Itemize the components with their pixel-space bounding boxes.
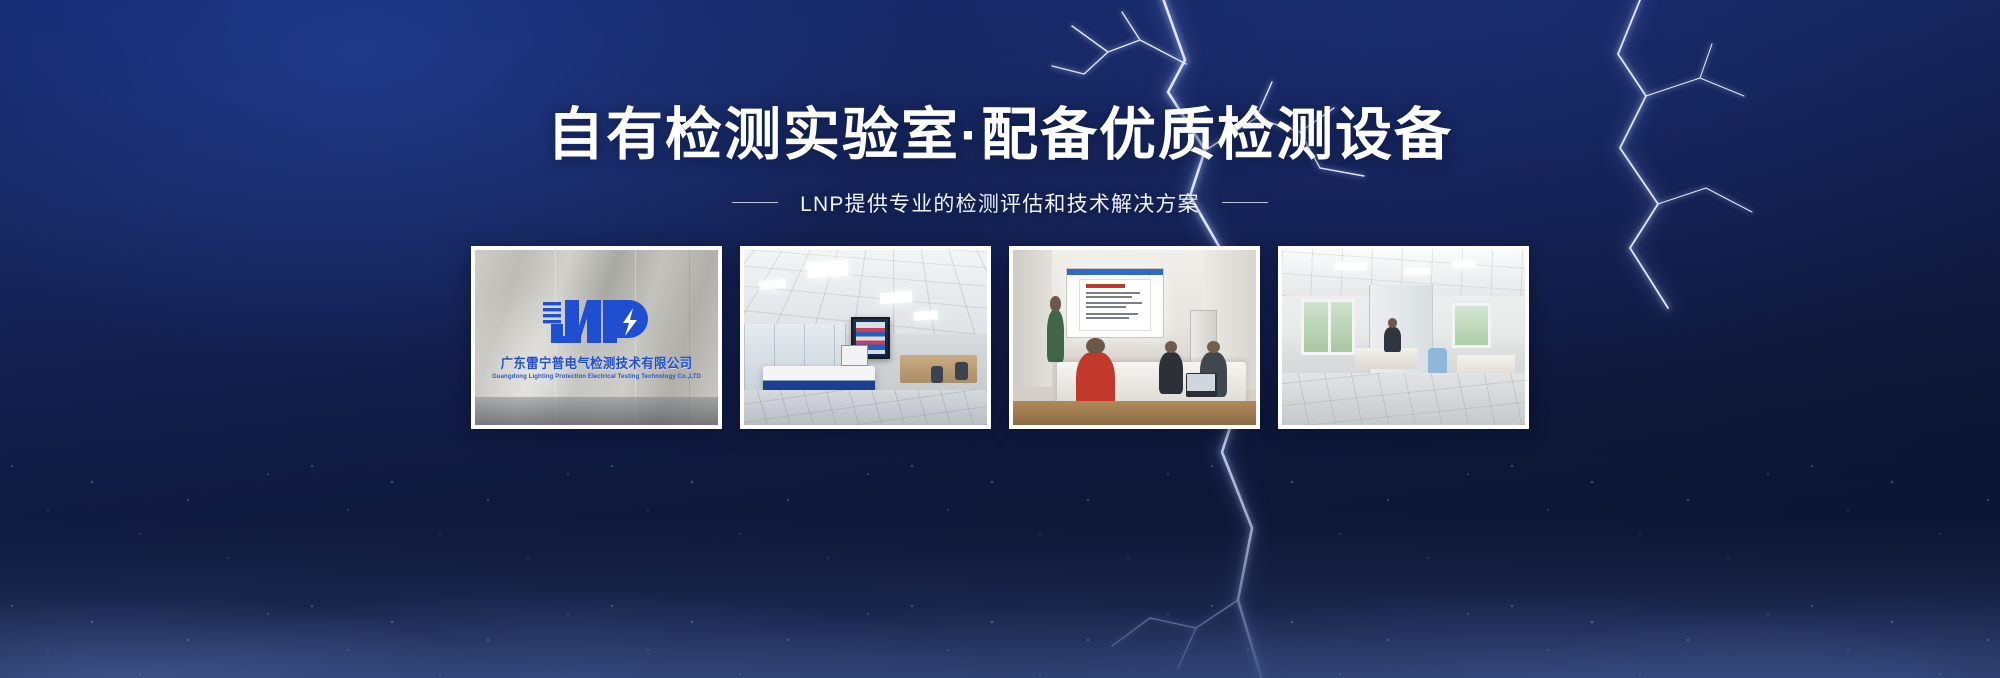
floor xyxy=(744,390,987,425)
attendee xyxy=(1159,352,1183,394)
lightning-branch-left xyxy=(1052,12,1186,74)
ceiling-light xyxy=(807,259,849,278)
rule-right-icon xyxy=(1222,202,1268,203)
presenter xyxy=(1047,310,1064,363)
page-title: 自有检测实验室·配备优质检测设备 xyxy=(0,104,2000,168)
ceiling-light xyxy=(880,291,912,304)
rule-left-icon xyxy=(732,202,778,203)
slide-line xyxy=(1086,306,1127,308)
photo-image xyxy=(744,250,987,425)
horizon-haze xyxy=(0,518,2000,678)
ceiling-light xyxy=(1335,262,1367,270)
company-name-cn: 广东雷宁普电气检测技术有限公司 xyxy=(485,352,709,372)
slide-line xyxy=(1086,317,1130,319)
gallery-photo-office-workspace[interactable] xyxy=(1278,246,1529,429)
gallery-photo-company-logo-wall[interactable]: 广东雷宁普电气检测技术有限公司 Guangdong Lighting Prote… xyxy=(471,246,722,429)
banner-copy: 自有检测实验室·配备优质检测设备 LNP提供专业的检测评估和技术解决方案 xyxy=(0,104,2000,218)
company-name-en: Guangdong Lighting Protection Electrical… xyxy=(481,373,712,380)
window xyxy=(1452,303,1491,349)
slide-heading xyxy=(1086,284,1125,287)
slide-line xyxy=(1086,313,1138,315)
gallery-photo-meeting-room-presentation[interactable] xyxy=(1009,246,1260,429)
window xyxy=(1301,299,1354,355)
subtitle-row: LNP提供专业的检测评估和技术解决方案 xyxy=(0,188,2000,218)
chair xyxy=(955,362,967,380)
ceiling-light xyxy=(1404,268,1431,275)
floor xyxy=(1013,401,1256,426)
floor xyxy=(475,397,718,425)
office-worker xyxy=(1384,327,1401,352)
monitor xyxy=(841,345,868,366)
hero-banner: 自有检测实验室·配备优质检测设备 LNP提供专业的检测评估和技术解决方案 xyxy=(0,0,2000,678)
lnp-logo-icon xyxy=(541,296,653,344)
chair xyxy=(931,366,943,384)
photo-gallery: 广东雷宁普电气检测技术有限公司 Guangdong Lighting Prote… xyxy=(471,246,1529,429)
wall-left xyxy=(1013,250,1052,387)
slide-line xyxy=(1086,302,1142,304)
lightning-bolt-lower-left xyxy=(1112,600,1238,668)
slide-document xyxy=(1079,279,1151,331)
projection-screen xyxy=(1066,268,1163,338)
screen-toolbar xyxy=(1067,269,1162,276)
laptop xyxy=(1186,373,1218,398)
page-subtitle: LNP提供专业的检测评估和技术解决方案 xyxy=(800,188,1200,218)
gallery-photo-laboratory-interior[interactable] xyxy=(740,246,991,429)
ceiling-light xyxy=(1452,261,1476,268)
photo-image xyxy=(1013,250,1256,425)
city-lights xyxy=(0,448,2000,678)
slide-line xyxy=(1086,296,1132,298)
photo-image xyxy=(1282,250,1525,425)
ceiling-light xyxy=(758,279,785,290)
floor xyxy=(1282,373,1525,426)
photo-image: 广东雷宁普电气检测技术有限公司 Guangdong Lighting Prote… xyxy=(475,250,718,425)
slide-line xyxy=(1086,292,1141,294)
